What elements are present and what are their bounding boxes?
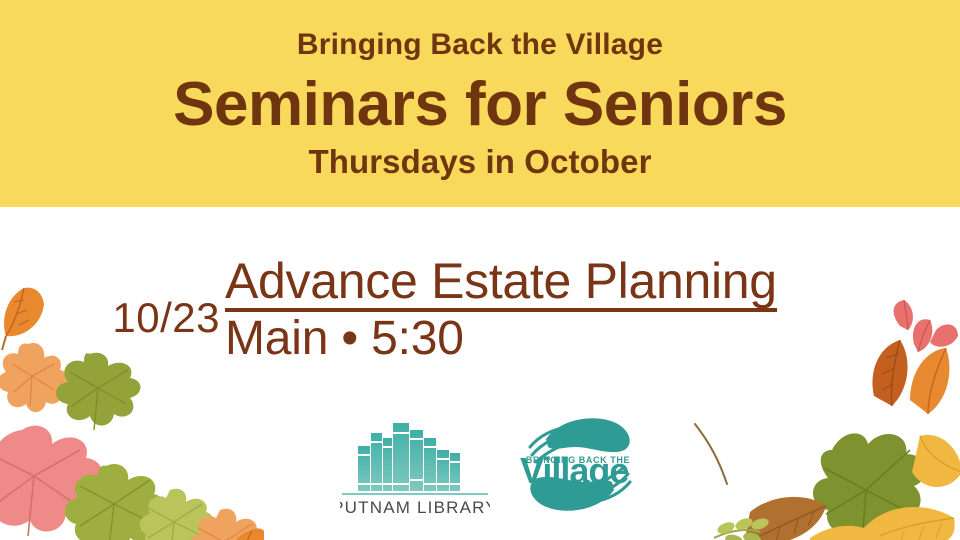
event-date: 10/23 <box>70 297 220 339</box>
village-wordmark: Village <box>520 450 628 491</box>
header-banner: Bringing Back the Village Seminars for S… <box>0 0 960 207</box>
event-block: 10/23 Advance Estate Planning Main • 5:3… <box>70 255 930 380</box>
logo-row: PUTNAM LIBRARY BRINGING BACK THE Village <box>330 405 660 525</box>
books-icon <box>358 423 460 491</box>
putnam-library-logo: PUTNAM LIBRARY <box>340 413 490 518</box>
library-wordmark: PUTNAM LIBRARY <box>340 498 490 517</box>
poster-canvas: Bringing Back the Village Seminars for S… <box>0 0 960 540</box>
event-details: Advance Estate Planning Main • 5:30 <box>225 255 925 364</box>
village-logo: BRINGING BACK THE Village <box>510 407 650 522</box>
banner-eyebrow: Bringing Back the Village <box>0 30 960 60</box>
banner-subtitle: Thursdays in October <box>0 145 960 178</box>
logo-rule <box>342 493 488 495</box>
page-title: Seminars for Seniors <box>0 72 960 137</box>
event-location-time: Main • 5:30 <box>225 314 925 364</box>
curved-stem-accent <box>655 398 765 498</box>
event-title: Advance Estate Planning <box>225 255 777 312</box>
